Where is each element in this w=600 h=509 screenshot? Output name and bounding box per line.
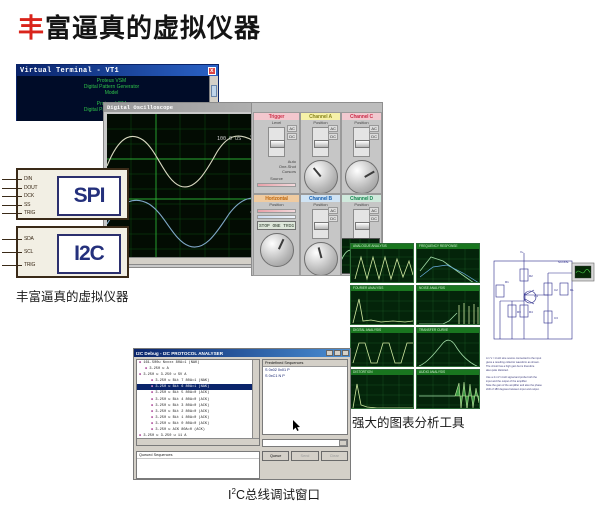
- i2c-block: SDA SCL TRIG I2C: [16, 226, 129, 278]
- row-text: 3.250 u Bit 7 80A=1 (NAK): [155, 379, 209, 383]
- svg-text:Q1: Q1: [534, 294, 538, 298]
- graph-window[interactable]: ANALOGUE ANALYSIS: [350, 243, 414, 283]
- coupling-dc-button[interactable]: DC: [328, 215, 338, 222]
- i2c-trace-tree[interactable]: ◆ 161.500u Nxxxx 80A=1 (NAK) ◆ 3.250 u A…: [136, 359, 260, 446]
- trigger-coupling-group[interactable]: AC DC: [287, 125, 297, 141]
- i2c-debug-title: I2C Debug - I2C PROTOCOL ANALYSER: [136, 351, 223, 356]
- window-buttons[interactable]: [326, 350, 350, 356]
- coupling-ac-button[interactable]: AC: [369, 125, 379, 132]
- tree-vertical-scrollbar[interactable]: [252, 360, 259, 446]
- i2c-button-row[interactable]: Queue Send Clear: [262, 451, 348, 461]
- svg-text:RL: RL: [570, 288, 574, 292]
- channel-a-coupling-group[interactable]: AC DC: [328, 125, 338, 141]
- close-icon[interactable]: x: [208, 67, 216, 75]
- measurement-top-label: 100.0 uS: [217, 136, 241, 142]
- channel-b-position-slider[interactable]: [312, 209, 329, 239]
- channel-c-position-slider[interactable]: [353, 127, 370, 157]
- row-text: 3.250 u Bit 5 80A=0 (ACK): [155, 391, 209, 395]
- panel-trigger[interactable]: Trigger Level AC DC Auto One-Shot Cursor…: [253, 112, 300, 194]
- circuit-notes: A 1 V / 1 kHz sine source connected to t…: [486, 357, 594, 392]
- graph-window[interactable]: AUDIO ANALYSIS: [416, 369, 480, 409]
- horizontal-position-slider[interactable]: [257, 209, 296, 213]
- channel-a-position-slider[interactable]: [312, 127, 329, 157]
- caption-graphs: 强大的图表分析工具: [352, 412, 465, 431]
- list-item[interactable]: S 0xC1 N P: [263, 373, 347, 379]
- page-title-rest: 富逼真的虚拟仪器: [45, 13, 261, 43]
- tree-horizontal-scrollbar[interactable]: [137, 438, 260, 445]
- queue-button[interactable]: Queue: [262, 451, 289, 461]
- caption-i2c-rest: C总线调试窗口: [236, 488, 320, 502]
- sequence-combobox[interactable]: [262, 439, 348, 447]
- trigger-source-selector[interactable]: [257, 183, 296, 187]
- row-text: 3.250 u Bit 1 80A=0 (ACK): [155, 416, 209, 420]
- panel-channel-c[interactable]: Channel C Position AC DC: [341, 112, 382, 194]
- panel-channel-a-header: Channel A: [301, 113, 340, 120]
- panel-trigger-header: Trigger: [254, 113, 299, 120]
- trigger-source-label: Source: [254, 176, 299, 181]
- horizontal-sublabel: Position: [254, 202, 299, 207]
- coupling-dc-button[interactable]: DC: [328, 133, 338, 140]
- page-title: 丰富逼真的虚拟仪器: [18, 8, 261, 45]
- svg-text:C3: C3: [554, 316, 558, 320]
- graph-window[interactable]: TRANSFER CURVE: [416, 327, 480, 367]
- trigger-level-slider[interactable]: [268, 127, 285, 157]
- row-text: 3.250 u Bit 6 80A=1 (NAK): [155, 385, 209, 389]
- horizontal-secondary-slider[interactable]: [257, 215, 296, 219]
- row-text: 3.250 u ACK 80A=0 (ACK): [155, 428, 205, 432]
- spi-label: SPI: [57, 176, 121, 216]
- close-icon[interactable]: [342, 350, 349, 356]
- svg-text:R3: R3: [517, 310, 521, 314]
- coupling-ac-button[interactable]: AC: [369, 207, 379, 214]
- coupling-dc-button[interactable]: DC: [287, 133, 297, 140]
- page-title-red-char: 丰: [18, 13, 45, 43]
- virtual-terminal-titlebar[interactable]: Virtual Terminal - VT1 x: [17, 65, 218, 76]
- row-text: 3.250 u Bit 2 80A=0 (ACK): [155, 410, 209, 414]
- coupling-ac-button[interactable]: AC: [328, 125, 338, 132]
- graph-analysis-grid[interactable]: ANALOGUE ANALYSIS FREQUENCY RESPONSE: [350, 243, 480, 409]
- send-button: Send: [291, 451, 318, 461]
- virtual-terminal-title: Virtual Terminal - VT1: [20, 67, 119, 75]
- panel-horizontal-header: Horizontal: [254, 195, 299, 202]
- i2c-label: I2C: [57, 234, 121, 274]
- trigger-cursors-label[interactable]: Cursors: [254, 169, 299, 174]
- row-text: 3.250 u Bit 3 80A=0 (ACK): [155, 404, 209, 408]
- row-text: 161.500u Nxxxx 80A=1 (NAK): [143, 361, 199, 365]
- predefined-sequences-header: Predefined Sequences: [263, 360, 347, 367]
- svg-text:SCOPE: SCOPE: [558, 260, 569, 264]
- channel-b-volts-knob[interactable]: [304, 242, 338, 276]
- graph-window[interactable]: DIGITAL ANALYSIS: [350, 327, 414, 367]
- svg-text:R2: R2: [529, 274, 533, 278]
- queued-sequences-label: Queued Sequences: [137, 452, 259, 459]
- channel-d-coupling-group[interactable]: AC DC: [369, 207, 379, 223]
- panel-channel-d-header: Channel D: [342, 195, 381, 202]
- row-text: 3.250 u Bit 4 80A=0 (ACK): [155, 398, 209, 402]
- queued-sequences-panel[interactable]: Queued Sequences: [136, 451, 260, 479]
- horizontal-mode-display[interactable]: STOP ONE TRIG: [257, 221, 296, 230]
- graph-window[interactable]: DISTORTION: [350, 369, 414, 409]
- scrollbar-thumb[interactable]: [211, 85, 217, 97]
- circuit-note: shift of 180 degrees between input and o…: [486, 388, 594, 392]
- oscilloscope-title: Digital Oscilloscope: [107, 104, 173, 111]
- chevron-down-icon[interactable]: [339, 440, 347, 446]
- maximize-icon[interactable]: [334, 350, 341, 356]
- channel-c-coupling-group[interactable]: AC DC: [369, 125, 379, 141]
- graph-window[interactable]: FREQUENCY RESPONSE: [416, 243, 480, 283]
- svg-text:R4: R4: [529, 310, 533, 314]
- predefined-sequences-panel[interactable]: Predefined Sequences S 0x02 0x01 P S 0xC…: [262, 359, 348, 435]
- minimize-icon[interactable]: [326, 350, 333, 356]
- panel-channel-b-header: Channel B: [301, 195, 340, 202]
- panel-channel-b[interactable]: Channel B Position AC DC: [300, 194, 341, 276]
- clear-button: Clear: [321, 451, 348, 461]
- mouse-cursor-icon: [293, 420, 300, 431]
- row-text: 3.250 u Bit 0 80A=0 (ACK): [155, 422, 209, 426]
- coupling-ac-button[interactable]: AC: [287, 125, 297, 132]
- i2c-debug-window[interactable]: I2C Debug - I2C PROTOCOL ANALYSER ◆ 161.…: [133, 348, 351, 480]
- schematic-drawing: R1R2 R4R3 C2RL C3Q1 V+SCOPE: [484, 245, 596, 357]
- i2c-debug-titlebar[interactable]: I2C Debug - I2C PROTOCOL ANALYSER: [134, 349, 350, 357]
- channel-c-volts-knob[interactable]: [345, 160, 379, 194]
- svg-text:V+: V+: [520, 250, 524, 254]
- row-text: 3.250 u 3.250 u SV A: [143, 373, 186, 377]
- graph-window[interactable]: NOISE ANALYSIS: [416, 285, 480, 325]
- caption-i2c: I2C总线调试窗口: [228, 484, 320, 503]
- circuit-schematic: R1R2 R4R3 C2RL C3Q1 V+SCOPE A 1 V / 1 kH…: [484, 245, 596, 395]
- svg-text:R1: R1: [505, 280, 509, 284]
- panel-channel-a[interactable]: Channel A Position AC DC: [300, 112, 341, 194]
- graph-window[interactable]: FOURIER ANALYSIS: [350, 285, 414, 325]
- panel-horizontal[interactable]: Horizontal Position STOP ONE TRIG: [253, 194, 300, 276]
- row-text: 3.250 u A: [149, 367, 168, 371]
- svg-text:C2: C2: [554, 288, 558, 292]
- channel-d-position-slider[interactable]: [353, 209, 370, 239]
- channel-a-volts-knob[interactable]: [304, 160, 338, 194]
- caption-instruments: 丰富逼真的虚拟仪器: [16, 286, 129, 305]
- coupling-dc-button[interactable]: DC: [369, 133, 379, 140]
- coupling-ac-button[interactable]: AC: [328, 207, 338, 214]
- page-root: 丰富逼真的虚拟仪器 Virtual Terminal - VT1 x Prote…: [0, 0, 600, 509]
- coupling-dc-button[interactable]: DC: [369, 215, 379, 222]
- spi-block: DIN DOUT DCK SS TRIG SPI: [16, 168, 129, 220]
- channel-b-coupling-group[interactable]: AC DC: [328, 207, 338, 223]
- panel-channel-c-header: Channel C: [342, 113, 381, 120]
- horizontal-timebase-knob[interactable]: [260, 233, 294, 267]
